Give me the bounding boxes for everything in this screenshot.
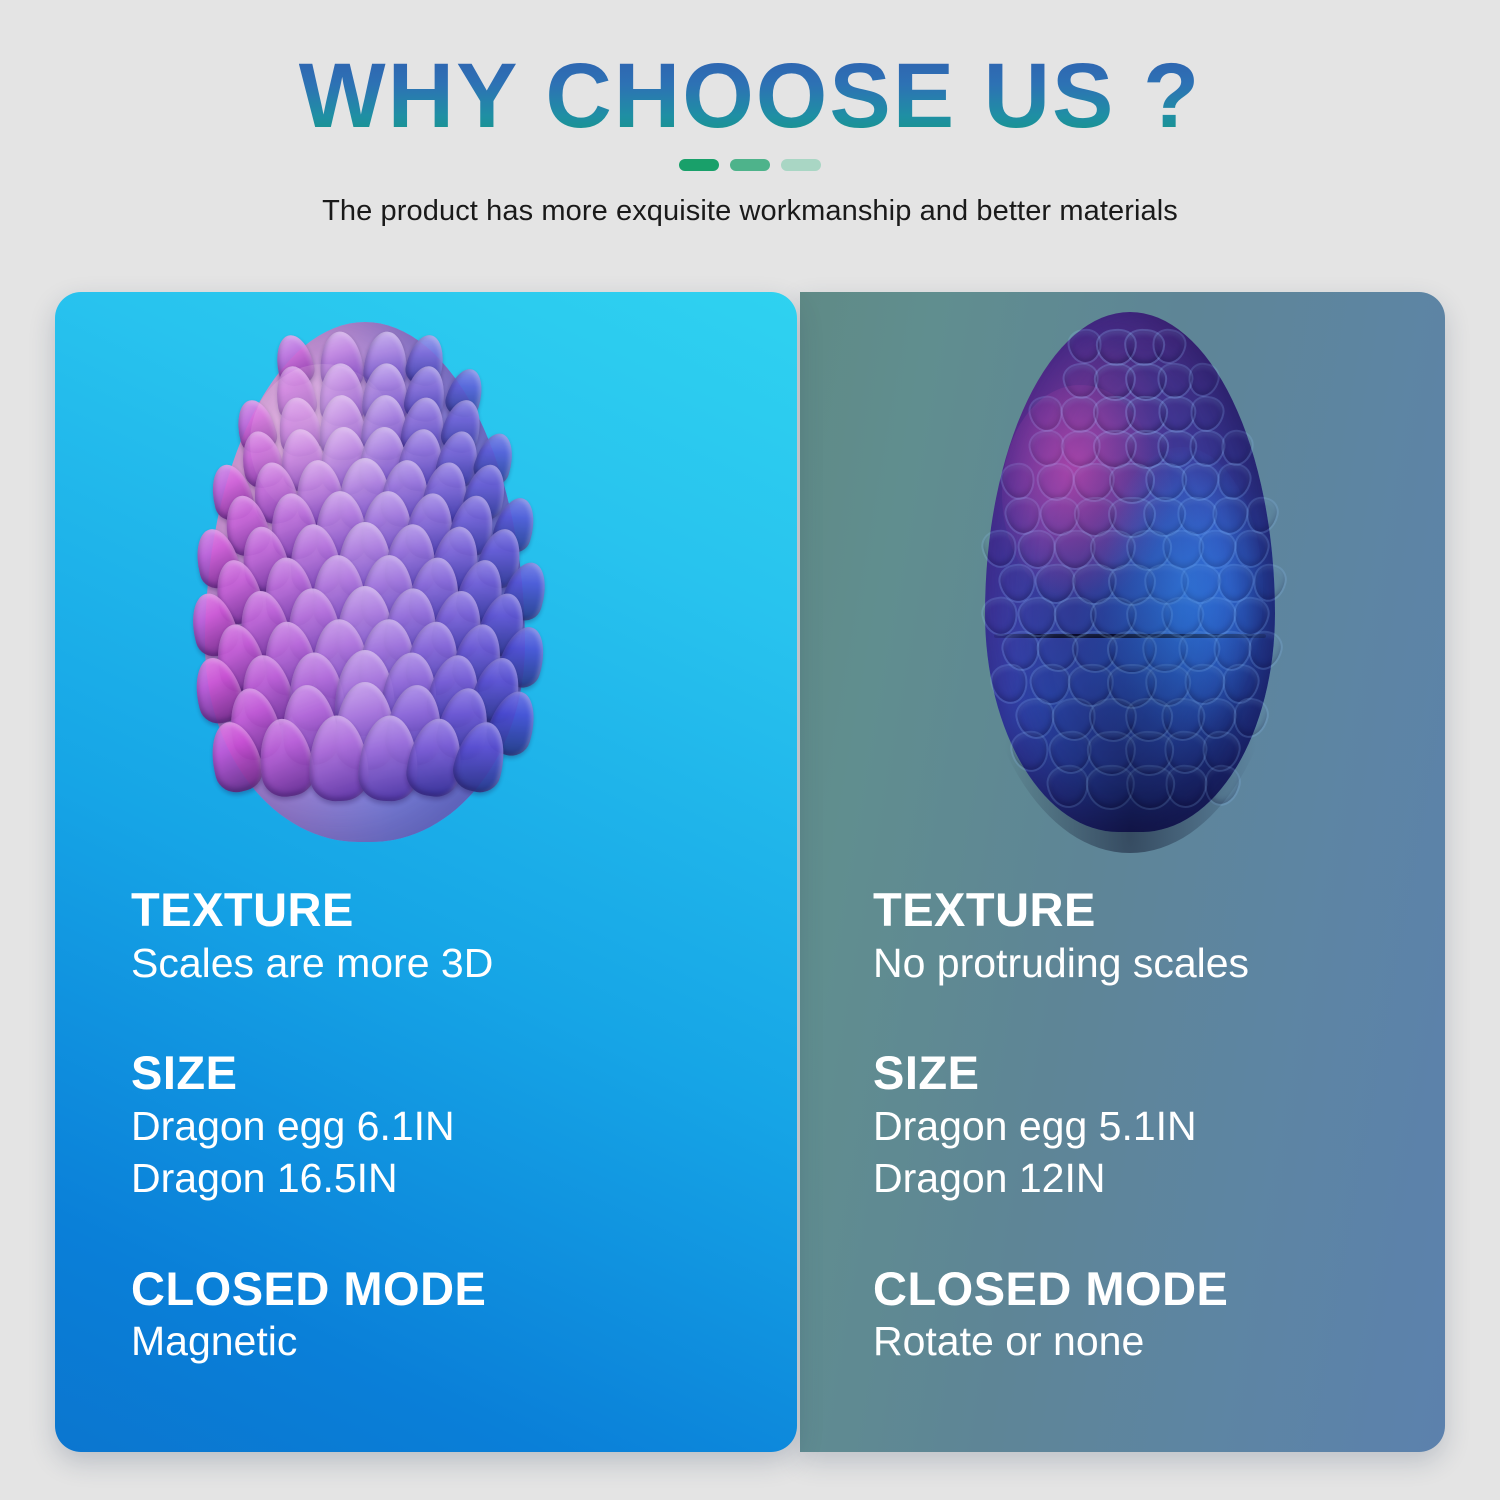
spec-list-ours: TEXTURE Scales are more 3D SIZE Dragon e…	[55, 884, 797, 1368]
comparison-card-others: TEXTURE No protruding scales SIZE Dragon…	[800, 292, 1445, 1452]
divider-dash-2	[730, 159, 770, 171]
spec-size: SIZE Dragon egg 6.1IN Dragon 16.5IN	[131, 1047, 797, 1205]
page-subtitle: The product has more exquisite workmansh…	[322, 195, 1178, 228]
spec-closed-mode: CLOSED MODE Magnetic	[131, 1263, 797, 1368]
spiky-scale-dragon-egg-icon	[205, 322, 525, 842]
product-image-ours	[55, 292, 797, 884]
spec-value-size-dragon: Dragon 16.5IN	[131, 1152, 797, 1204]
divider-dash-1	[679, 159, 719, 171]
spec-value-size-egg: Dragon egg 5.1IN	[873, 1100, 1445, 1152]
page-title: WHY CHOOSE US ?	[299, 48, 1201, 145]
page-header: WHY CHOOSE US ? The product has more exq…	[0, 0, 1500, 292]
spec-size: SIZE Dragon egg 5.1IN Dragon 12IN	[873, 1047, 1445, 1205]
spec-value-closed-mode: Rotate or none	[873, 1315, 1445, 1367]
spec-value-size-dragon: Dragon 12IN	[873, 1152, 1445, 1204]
divider-dash-3	[781, 159, 821, 171]
spec-list-others: TEXTURE No protruding scales SIZE Dragon…	[800, 884, 1445, 1368]
spec-label-texture: TEXTURE	[131, 884, 797, 937]
spec-label-size: SIZE	[131, 1047, 797, 1100]
spec-label-closed-mode: CLOSED MODE	[873, 1263, 1445, 1316]
spec-label-texture: TEXTURE	[873, 884, 1445, 937]
spec-label-closed-mode: CLOSED MODE	[131, 1263, 797, 1316]
comparison-cards: TEXTURE Scales are more 3D SIZE Dragon e…	[55, 292, 1445, 1452]
decorative-divider	[679, 159, 821, 171]
spec-value-size-egg: Dragon egg 6.1IN	[131, 1100, 797, 1152]
spec-texture: TEXTURE No protruding scales	[873, 884, 1445, 989]
spec-value-texture: Scales are more 3D	[131, 937, 797, 989]
spec-texture: TEXTURE Scales are more 3D	[131, 884, 797, 989]
spec-label-size: SIZE	[873, 1047, 1445, 1100]
spec-value-closed-mode: Magnetic	[131, 1315, 797, 1367]
product-image-others	[800, 292, 1445, 884]
spec-closed-mode: CLOSED MODE Rotate or none	[873, 1263, 1445, 1368]
spec-value-texture: No protruding scales	[873, 937, 1445, 989]
comparison-card-ours: TEXTURE Scales are more 3D SIZE Dragon e…	[55, 292, 797, 1452]
flat-scale-dragon-egg-icon	[985, 312, 1275, 832]
